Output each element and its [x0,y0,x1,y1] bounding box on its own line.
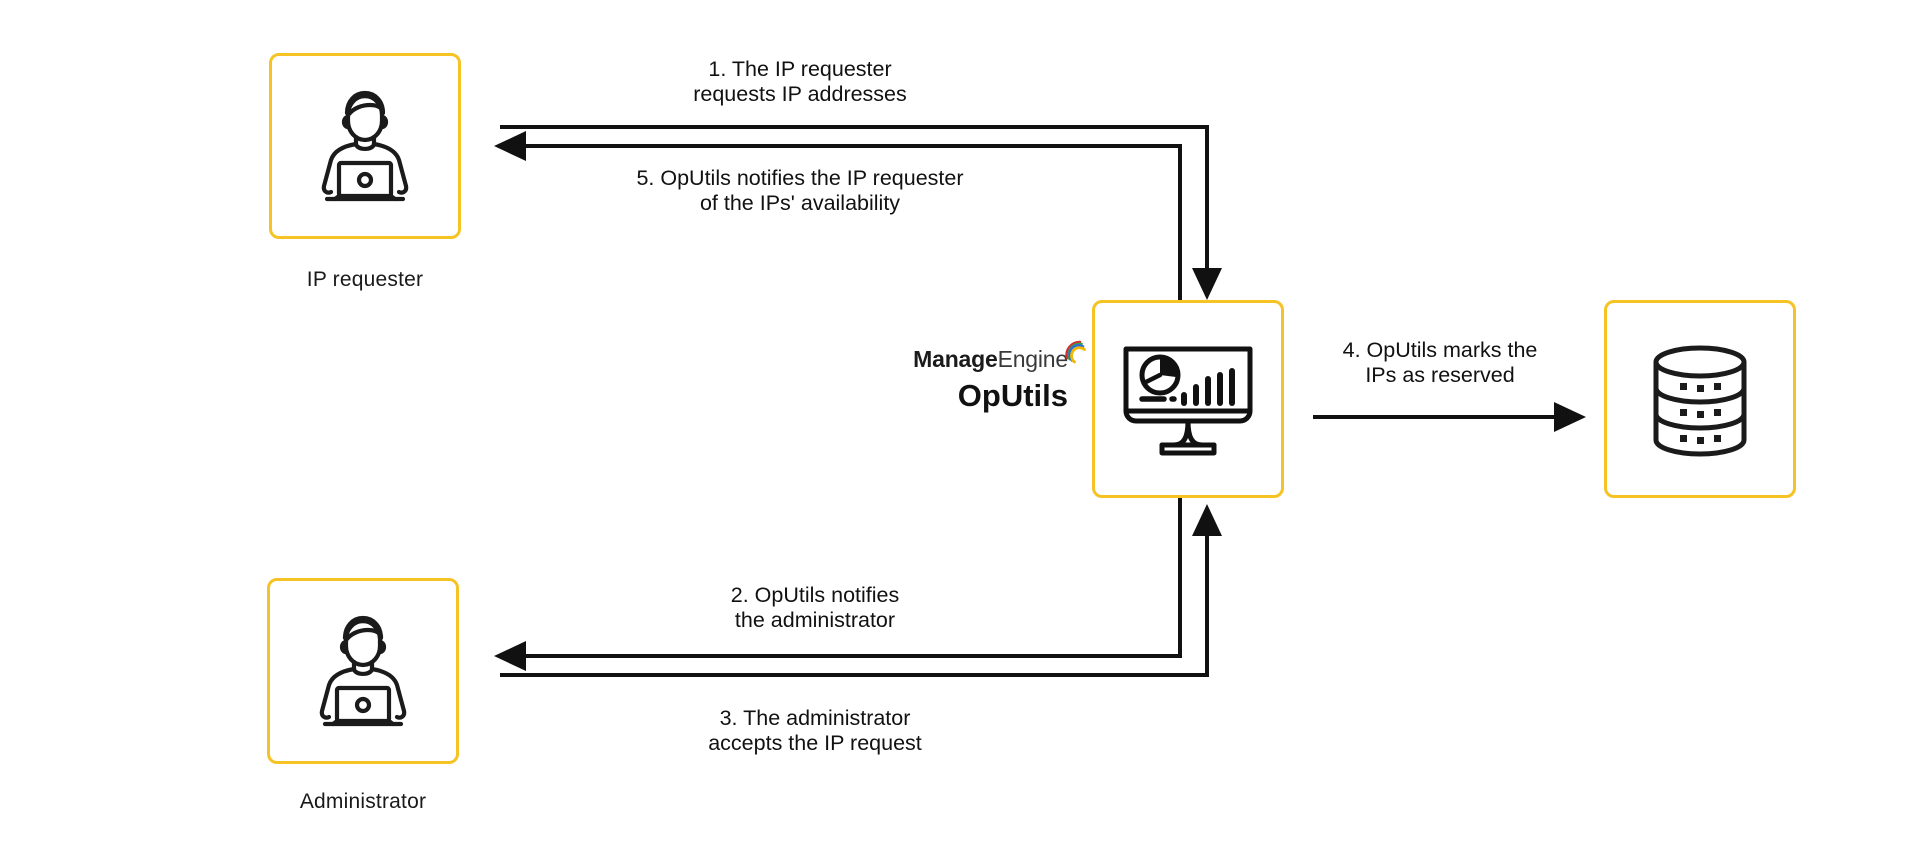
brand-logo: ManageEngine OpUtils [838,348,1068,411]
person-at-laptop-icon [299,83,431,209]
brand-product-name: OpUtils [838,380,1068,411]
edge-4-wire [1313,402,1586,432]
diagram-canvas: IP requester Administrator ManageEngin [0,0,1920,865]
edge-1-label: 1. The IP requester requests IP addresse… [600,57,1000,107]
brand-manageengine-wordmark: ManageEngine [913,348,1068,371]
edge-2-label: 2. OpUtils notifies the administrator [650,583,980,633]
node-database[interactable] [1604,300,1796,498]
node-ip-requester[interactable] [269,53,461,239]
monitor-dashboard-icon [1118,337,1258,461]
node-ip-requester-caption: IP requester [269,268,461,292]
node-oputils[interactable] [1092,300,1284,498]
brand-engine-text: Engine [998,346,1068,372]
edge-4-label: 4. OpUtils marks the IPs as reserved [1290,338,1590,388]
edge-5-label: 5. OpUtils notifies the IP requester of … [570,166,1030,216]
database-cylinder-icon [1637,336,1763,462]
brand-manage-text: Manage [913,346,997,372]
node-administrator[interactable] [267,578,459,764]
person-at-laptop-icon [297,608,429,734]
edge-3-label: 3. The administrator accepts the IP requ… [615,706,1015,756]
node-administrator-caption: Administrator [267,790,459,814]
manageengine-swoosh-icon [1063,339,1089,365]
